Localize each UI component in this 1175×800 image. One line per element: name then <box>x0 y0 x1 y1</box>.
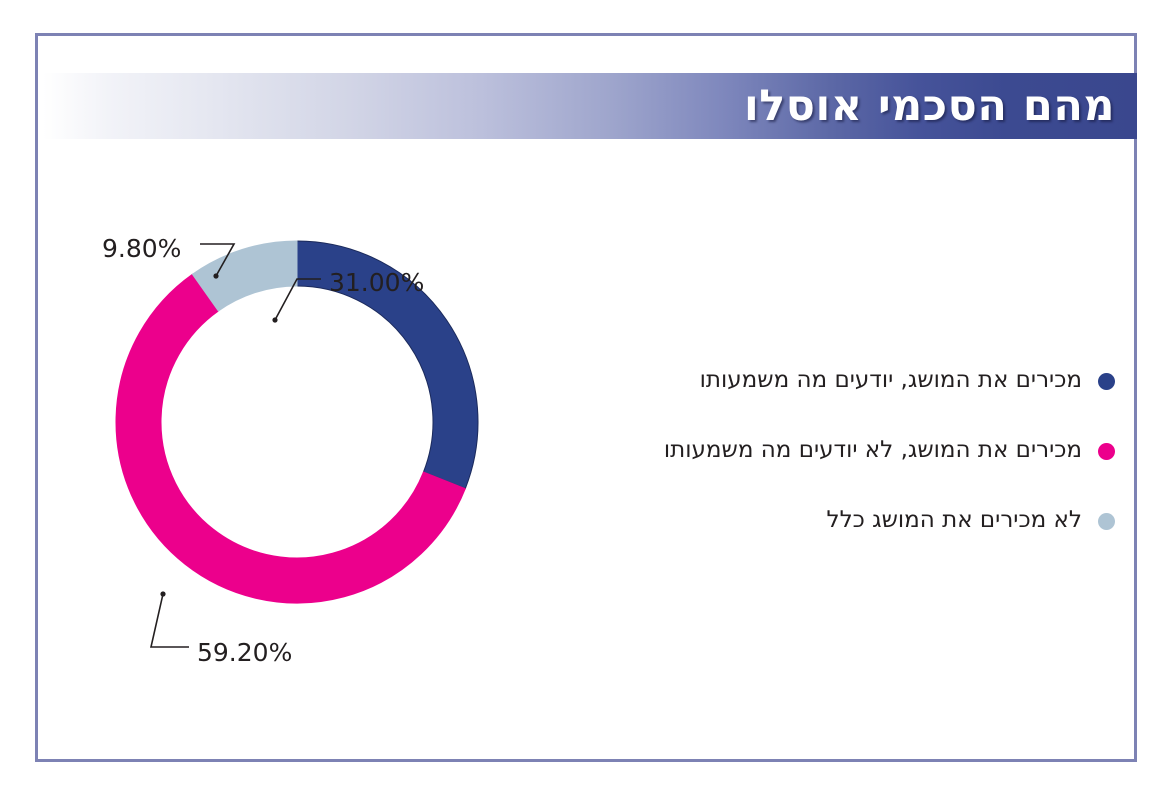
slice-value-label-know-meaning: 31.00% <box>329 268 424 297</box>
donut-chart-svg: 31.00%59.20%9.80% <box>97 222 497 622</box>
slice-value-label-dont-know: 9.80% <box>102 234 181 263</box>
slice-value-label-know-not-meaning: 59.20% <box>197 638 292 667</box>
legend-item-know-meaning[interactable]: מכירים את המושג, יודעים מה משמעותו <box>555 346 1115 416</box>
chart-area: 31.00%59.20%9.80% מכירים את המושג, יודעי… <box>35 150 1137 750</box>
legend-marker-pink-icon <box>1098 443 1115 460</box>
chart-legend: מכירים את המושג, יודעים מה משמעותו מכירי… <box>555 346 1115 556</box>
legend-item-label: מכירים את המושג, לא יודעים מה משמעותו <box>664 437 1082 465</box>
legend-item-know-not-meaning[interactable]: מכירים את המושג, לא יודעים מה משמעותו <box>555 416 1115 486</box>
leader-dot-dont-know <box>213 273 218 278</box>
page-title: מהם הסכמי אוסלו <box>744 85 1115 128</box>
legend-item-label: לא מכירים את המושג כלל <box>827 507 1083 535</box>
donut-chart: 31.00%59.20%9.80% <box>97 222 497 622</box>
legend-item-dont-know[interactable]: לא מכירים את המושג כלל <box>555 486 1115 556</box>
legend-marker-lightblue-icon <box>1098 513 1115 530</box>
leader-dot-know-meaning <box>272 317 277 322</box>
leader-dot-know-not-meaning <box>160 591 165 596</box>
leader-line-know-not-meaning <box>151 594 189 647</box>
legend-marker-blue-icon <box>1098 373 1115 390</box>
title-banner: מהם הסכמי אוסלו <box>43 73 1137 139</box>
legend-item-label: מכירים את המושג, יודעים מה משמעותו <box>700 367 1082 395</box>
